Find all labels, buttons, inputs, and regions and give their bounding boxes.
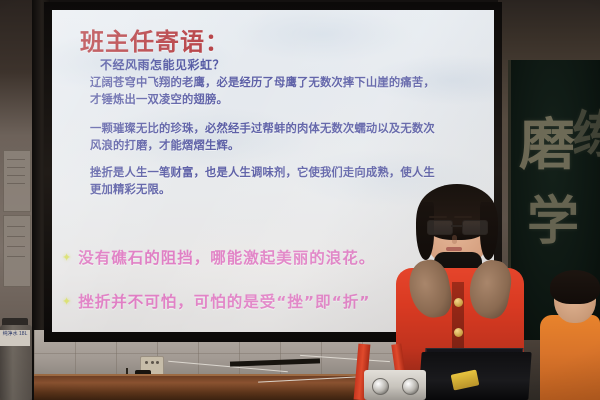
slide-paragraph-1: 辽阔苍穹中飞翔的老鹰，必是经历了母鹰了无数次摔下山崖的痛苦，才锤炼出一双凌空的翅… xyxy=(90,74,442,108)
seated-audience-member xyxy=(540,275,600,400)
chalk-character-2: 学 xyxy=(527,196,579,248)
slide-title: 班主任寄语： xyxy=(80,22,230,57)
nose xyxy=(452,235,457,244)
chalk-character-1: 磨 xyxy=(519,118,575,174)
glasses-icon xyxy=(426,220,488,233)
wall-poster-lower xyxy=(3,215,31,287)
coat-button xyxy=(454,328,463,337)
glasses-bridge xyxy=(451,225,462,227)
audience-hair xyxy=(550,270,600,304)
projector-lens-left-icon xyxy=(372,378,389,395)
water-bottle-label: 纯净水 18L xyxy=(0,330,30,346)
chalk-character-3: 练 xyxy=(572,110,600,160)
projector-lens-right-icon xyxy=(402,378,419,395)
glasses-right-lens xyxy=(462,220,488,235)
slide-paragraph-2: 一颗璀璨无比的珍珠，必然经手过帮蚌的肉体无数次蠕动以及无数次风浪的打磨，才能熠熠… xyxy=(90,120,442,154)
slide-highlight-1: ✦ 没有礁石的阻挡，哪能激起美丽的浪花。 xyxy=(62,248,375,268)
star-bullet-icon: ✦ xyxy=(62,292,71,312)
coat-button xyxy=(454,298,463,307)
slide-highlight-2: ✦ 挫折并不可怕，可怕的是受“挫”即“折” xyxy=(62,292,370,312)
slide-paragraph-3: 挫折是人生一笔财富，也是人生调味剂，它使我们走向成熟，使人生更加精彩无限。 xyxy=(90,164,442,198)
slide-subtitle: 不经风雨怎能见彩虹？ xyxy=(100,56,225,73)
star-bullet-icon: ✦ xyxy=(62,248,71,268)
left-eyebrow xyxy=(429,216,447,218)
mouth xyxy=(446,247,462,251)
glasses-left-lens xyxy=(427,220,453,235)
slide-highlight-2-text: 挫折并不可怕，可怕的是受“挫”即“折” xyxy=(78,292,370,312)
classroom-photo-scene: 纯净水 18L 磨 学 练 班主任寄语： 不经风雨怎能见彩虹？ 辽阔苍穹中飞翔的… xyxy=(0,0,600,400)
orange-jacket xyxy=(540,315,600,400)
wall-poster-upper xyxy=(3,150,31,212)
right-eyebrow xyxy=(454,216,472,218)
slide-highlight-1-text: 没有礁石的阻挡，哪能激起美丽的浪花。 xyxy=(78,248,375,268)
